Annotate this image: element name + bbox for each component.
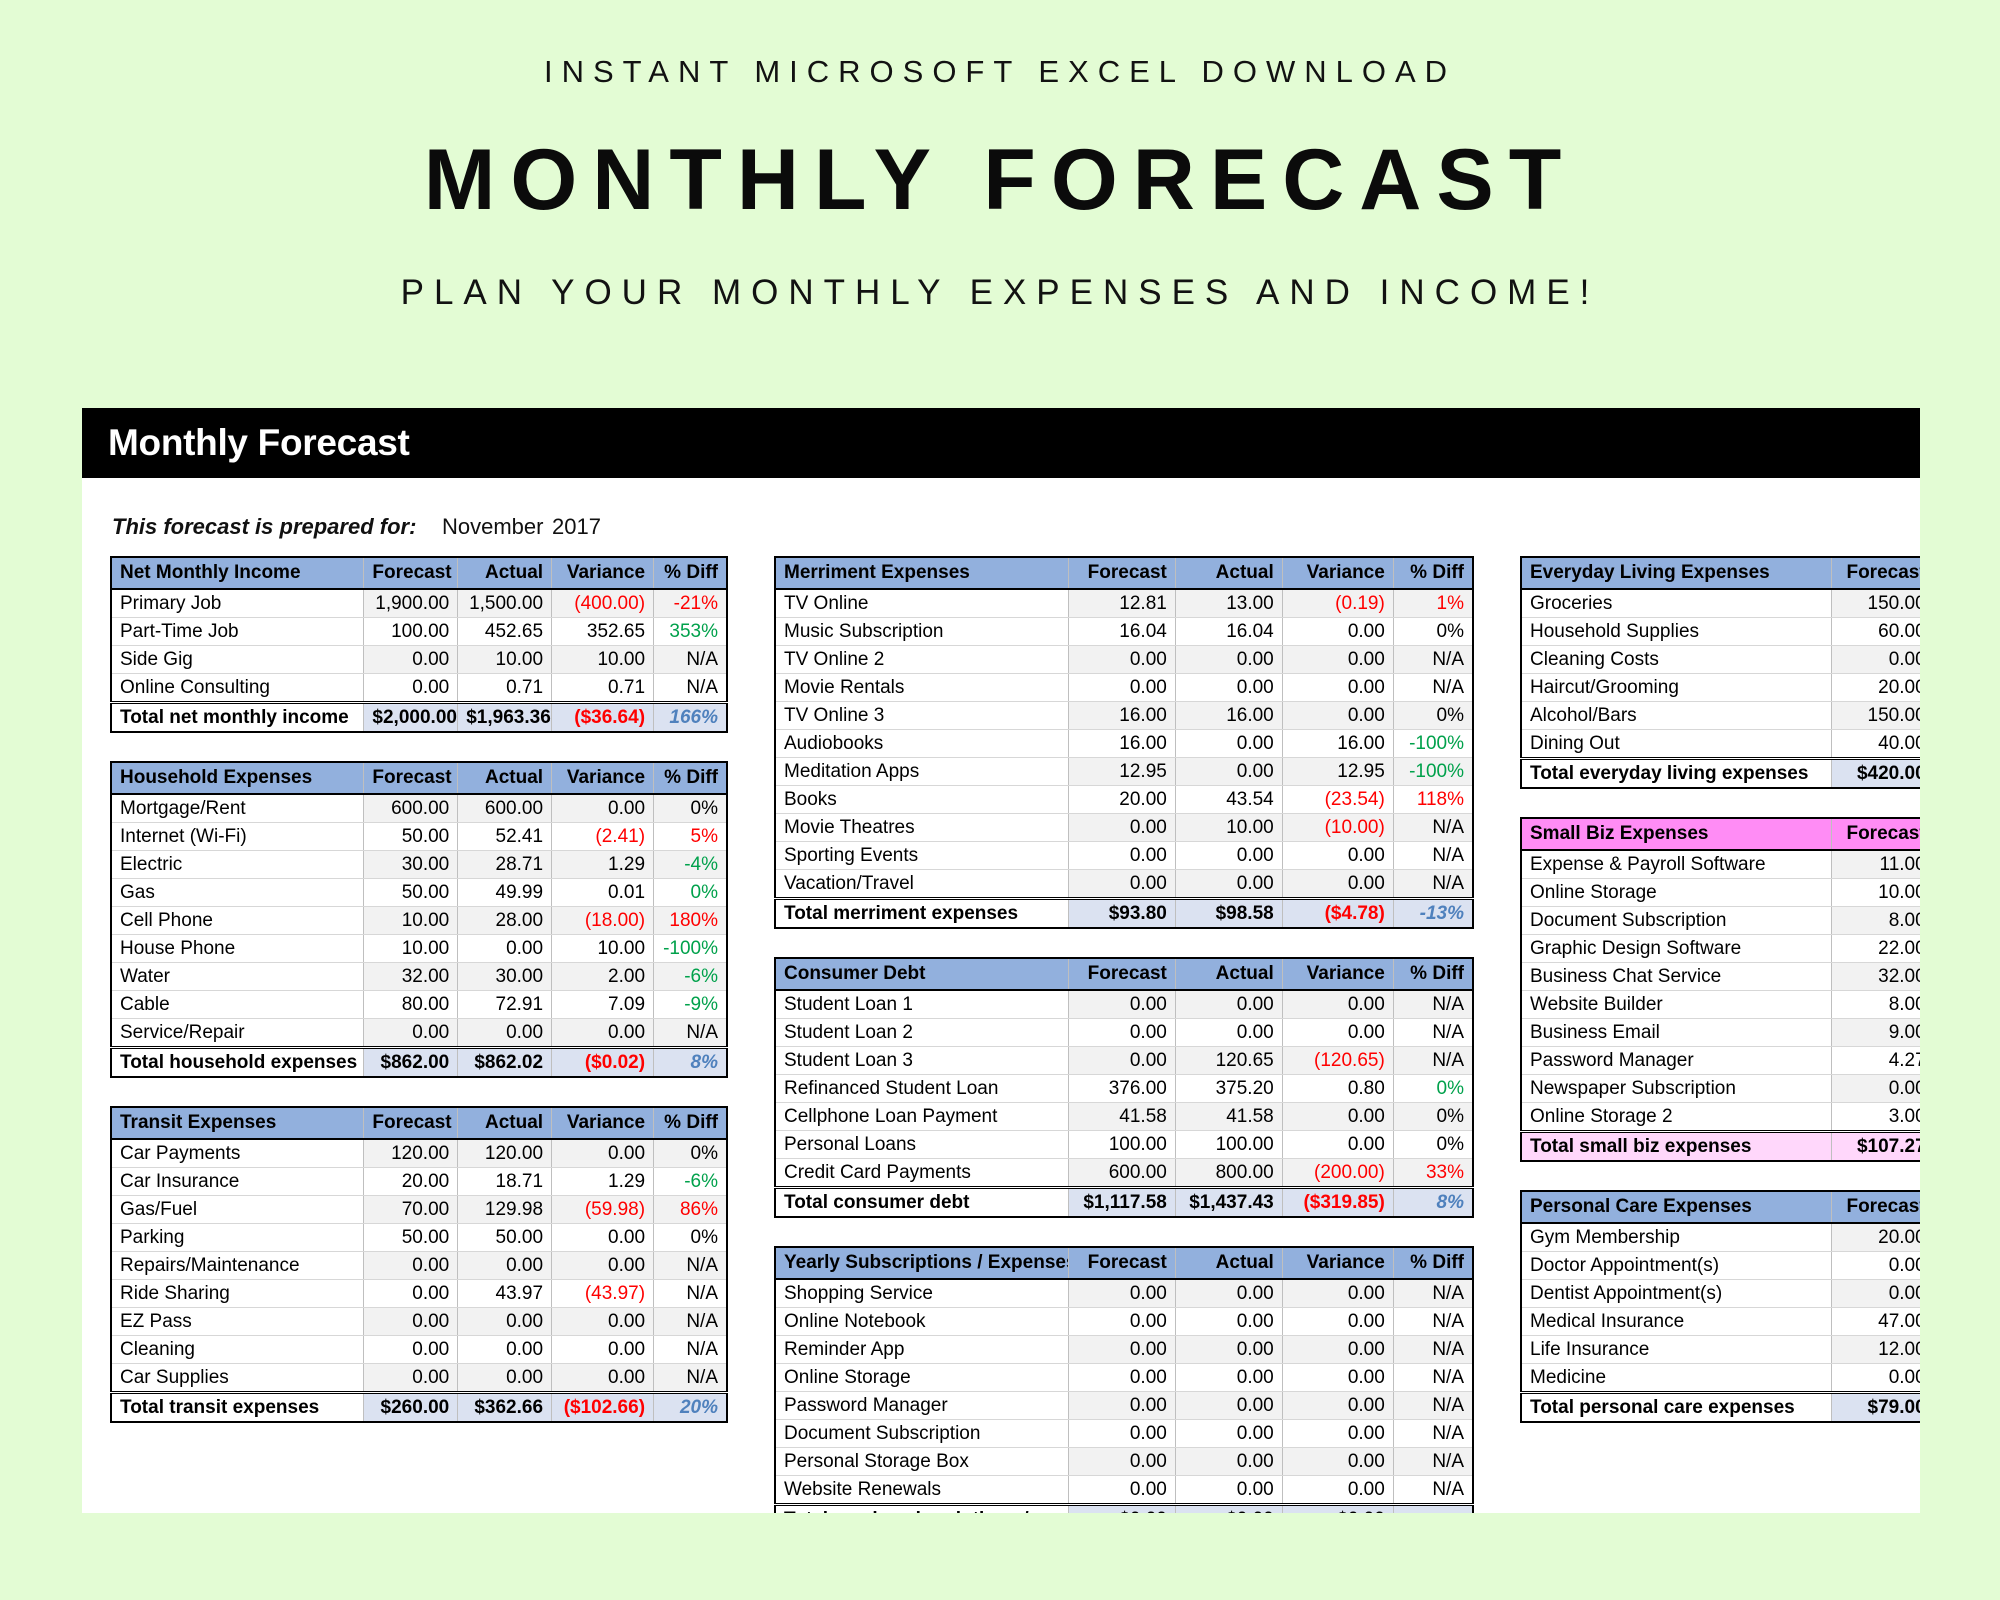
- col-header-forecast[interactable]: Forecast: [1068, 557, 1175, 589]
- cell-actual[interactable]: 452.65: [458, 618, 552, 646]
- row-label[interactable]: Movie Rentals: [775, 674, 1068, 702]
- cell-actual[interactable]: 1,500.00: [458, 589, 552, 618]
- row-label[interactable]: Car Payments: [111, 1139, 364, 1168]
- cell-pct-diff[interactable]: N/A: [654, 1364, 727, 1393]
- row-label[interactable]: Doctor Appointment(s): [1521, 1252, 1832, 1280]
- row-label[interactable]: Cleaning Costs: [1521, 646, 1832, 674]
- col-header-variance[interactable]: Variance: [552, 762, 654, 794]
- cell-forecast[interactable]: 70.00: [364, 1196, 458, 1224]
- cell-actual[interactable]: 0.00: [1175, 674, 1282, 702]
- table-title-cell[interactable]: Transit Expenses: [111, 1107, 364, 1139]
- cell-actual[interactable]: 16.04: [1175, 618, 1282, 646]
- cell-variance[interactable]: 0.00: [1282, 1131, 1393, 1159]
- cell-pct-diff[interactable]: 33%: [1393, 1159, 1473, 1188]
- cell-variance[interactable]: 0.00: [552, 1139, 654, 1168]
- cell-forecast[interactable]: 9.00: [1832, 1019, 1920, 1047]
- row-label[interactable]: Online Storage 2: [1521, 1103, 1832, 1132]
- cell-forecast[interactable]: 600.00: [1068, 1159, 1175, 1188]
- row-label[interactable]: Household Supplies: [1521, 618, 1832, 646]
- cell-variance[interactable]: 0.00: [552, 1252, 654, 1280]
- row-label[interactable]: Music Subscription: [775, 618, 1068, 646]
- col-header-forecast[interactable]: Forecast: [1068, 1247, 1175, 1279]
- cell-pct-diff[interactable]: N/A: [1393, 1476, 1473, 1505]
- row-label[interactable]: Website Renewals: [775, 1476, 1068, 1505]
- col-header-forecast[interactable]: Forecast: [1832, 557, 1920, 589]
- cell-forecast[interactable]: 0.00: [1068, 1019, 1175, 1047]
- cell-forecast[interactable]: 8.00: [1832, 991, 1920, 1019]
- cell-actual[interactable]: 0.00: [458, 1019, 552, 1048]
- cell-pct-diff[interactable]: N/A: [1393, 646, 1473, 674]
- cell-variance[interactable]: 0.00: [1282, 870, 1393, 899]
- cell-forecast[interactable]: 0.00: [1068, 1336, 1175, 1364]
- row-label[interactable]: Document Subscription: [1521, 907, 1832, 935]
- cell-pct-diff[interactable]: N/A: [654, 1308, 727, 1336]
- cell-variance[interactable]: (400.00): [552, 589, 654, 618]
- row-label[interactable]: TV Online: [775, 589, 1068, 618]
- cell-pct-diff[interactable]: 0%: [654, 1139, 727, 1168]
- cell-forecast[interactable]: 50.00: [364, 879, 458, 907]
- cell-pct-diff[interactable]: 0%: [654, 879, 727, 907]
- cell-forecast[interactable]: 0.00: [1068, 1279, 1175, 1308]
- table-title-cell[interactable]: Everyday Living Expenses: [1521, 557, 1832, 589]
- col-header-variance[interactable]: Variance: [552, 1107, 654, 1139]
- row-label[interactable]: Haircut/Grooming: [1521, 674, 1832, 702]
- cell-variance[interactable]: 0.00: [1282, 1336, 1393, 1364]
- cell-actual[interactable]: 43.97: [458, 1280, 552, 1308]
- table-title-cell[interactable]: Personal Care Expenses: [1521, 1191, 1832, 1223]
- row-label[interactable]: Repairs/Maintenance: [111, 1252, 364, 1280]
- table-title-cell[interactable]: Merriment Expenses: [775, 557, 1068, 589]
- cell-pct-diff[interactable]: N/A: [1393, 1279, 1473, 1308]
- row-label[interactable]: Document Subscription: [775, 1420, 1068, 1448]
- row-label[interactable]: Cleaning: [111, 1336, 364, 1364]
- cell-forecast[interactable]: 4.27: [1832, 1047, 1920, 1075]
- cell-pct-diff[interactable]: 86%: [654, 1196, 727, 1224]
- row-label[interactable]: Graphic Design Software: [1521, 935, 1832, 963]
- cell-pct-diff[interactable]: 0%: [1393, 1075, 1473, 1103]
- row-label[interactable]: Gym Membership: [1521, 1223, 1832, 1252]
- cell-actual[interactable]: 0.00: [1175, 1364, 1282, 1392]
- row-label[interactable]: Online Storage: [1521, 879, 1832, 907]
- row-label[interactable]: TV Online 3: [775, 702, 1068, 730]
- cell-forecast[interactable]: 0.00: [1068, 1420, 1175, 1448]
- cell-forecast[interactable]: 0.00: [1068, 814, 1175, 842]
- cell-variance[interactable]: 0.00: [552, 1308, 654, 1336]
- cell-forecast[interactable]: 8.00: [1832, 907, 1920, 935]
- cell-forecast[interactable]: 0.00: [1832, 1364, 1920, 1393]
- cell-actual[interactable]: 375.20: [1175, 1075, 1282, 1103]
- row-label[interactable]: Sporting Events: [775, 842, 1068, 870]
- col-header-forecast[interactable]: Forecast: [364, 1107, 458, 1139]
- cell-actual[interactable]: 10.00: [1175, 814, 1282, 842]
- cell-forecast[interactable]: 0.00: [1068, 1308, 1175, 1336]
- cell-pct-diff[interactable]: 0%: [1393, 618, 1473, 646]
- cell-actual[interactable]: 0.00: [458, 1252, 552, 1280]
- cell-forecast[interactable]: 20.00: [364, 1168, 458, 1196]
- cell-forecast[interactable]: 100.00: [364, 618, 458, 646]
- cell-variance[interactable]: 7.09: [552, 991, 654, 1019]
- row-label[interactable]: Part-Time Job: [111, 618, 364, 646]
- row-label[interactable]: Dentist Appointment(s): [1521, 1280, 1832, 1308]
- cell-variance[interactable]: 0.00: [552, 1224, 654, 1252]
- cell-variance[interactable]: 0.00: [1282, 618, 1393, 646]
- cell-pct-diff[interactable]: N/A: [654, 1019, 727, 1048]
- cell-actual[interactable]: 100.00: [1175, 1131, 1282, 1159]
- cell-forecast[interactable]: 10.00: [1832, 879, 1920, 907]
- cell-forecast[interactable]: 41.58: [1068, 1103, 1175, 1131]
- cell-variance[interactable]: (59.98): [552, 1196, 654, 1224]
- cell-actual[interactable]: 600.00: [458, 794, 552, 823]
- row-label[interactable]: Online Consulting: [111, 674, 364, 703]
- cell-variance[interactable]: 0.00: [1282, 1308, 1393, 1336]
- cell-pct-diff[interactable]: -100%: [654, 935, 727, 963]
- cell-actual[interactable]: 52.41: [458, 823, 552, 851]
- col-header-actual[interactable]: Actual: [458, 762, 552, 794]
- cell-actual[interactable]: 0.00: [1175, 870, 1282, 899]
- row-label[interactable]: Password Manager: [1521, 1047, 1832, 1075]
- row-label[interactable]: Expense & Payroll Software: [1521, 850, 1832, 879]
- row-label[interactable]: Online Notebook: [775, 1308, 1068, 1336]
- cell-pct-diff[interactable]: N/A: [1393, 1336, 1473, 1364]
- cell-forecast[interactable]: 20.00: [1832, 1223, 1920, 1252]
- cell-pct-diff[interactable]: N/A: [1393, 814, 1473, 842]
- cell-forecast[interactable]: 12.95: [1068, 758, 1175, 786]
- cell-pct-diff[interactable]: 180%: [654, 907, 727, 935]
- cell-actual[interactable]: 28.71: [458, 851, 552, 879]
- row-label[interactable]: Internet (Wi-Fi): [111, 823, 364, 851]
- col-header-pct-diff[interactable]: % Diff: [654, 1107, 727, 1139]
- col-header-actual[interactable]: Actual: [1175, 557, 1282, 589]
- cell-actual[interactable]: 72.91: [458, 991, 552, 1019]
- row-label[interactable]: Life Insurance: [1521, 1336, 1832, 1364]
- cell-actual[interactable]: 0.00: [458, 1364, 552, 1393]
- col-header-actual[interactable]: Actual: [1175, 1247, 1282, 1279]
- cell-actual[interactable]: 0.00: [1175, 646, 1282, 674]
- cell-forecast[interactable]: 50.00: [364, 823, 458, 851]
- cell-pct-diff[interactable]: N/A: [1393, 1392, 1473, 1420]
- cell-variance[interactable]: (43.97): [552, 1280, 654, 1308]
- prepared-for-month[interactable]: November: [442, 514, 552, 540]
- cell-forecast[interactable]: 0.00: [1068, 674, 1175, 702]
- cell-forecast[interactable]: 0.00: [1832, 1252, 1920, 1280]
- table-title-cell[interactable]: Household Expenses: [111, 762, 364, 794]
- cell-actual[interactable]: 120.00: [458, 1139, 552, 1168]
- row-label[interactable]: Student Loan 2: [775, 1019, 1068, 1047]
- row-label[interactable]: Password Manager: [775, 1392, 1068, 1420]
- cell-actual[interactable]: 16.00: [1175, 702, 1282, 730]
- cell-actual[interactable]: 28.00: [458, 907, 552, 935]
- cell-pct-diff[interactable]: N/A: [1393, 674, 1473, 702]
- cell-actual[interactable]: 129.98: [458, 1196, 552, 1224]
- cell-forecast[interactable]: 100.00: [1068, 1131, 1175, 1159]
- cell-variance[interactable]: 0.00: [1282, 842, 1393, 870]
- cell-forecast[interactable]: 0.00: [364, 1308, 458, 1336]
- cell-forecast[interactable]: 40.00: [1832, 730, 1920, 759]
- cell-pct-diff[interactable]: N/A: [1393, 1364, 1473, 1392]
- cell-pct-diff[interactable]: -4%: [654, 851, 727, 879]
- cell-pct-diff[interactable]: 0%: [654, 1224, 727, 1252]
- cell-pct-diff[interactable]: N/A: [1393, 1047, 1473, 1075]
- row-label[interactable]: Newspaper Subscription: [1521, 1075, 1832, 1103]
- cell-pct-diff[interactable]: N/A: [654, 646, 727, 674]
- cell-actual[interactable]: 10.00: [458, 646, 552, 674]
- col-header-forecast[interactable]: Forecast: [1068, 958, 1175, 990]
- cell-pct-diff[interactable]: N/A: [654, 1252, 727, 1280]
- cell-pct-diff[interactable]: N/A: [1393, 842, 1473, 870]
- cell-pct-diff[interactable]: 0%: [1393, 1131, 1473, 1159]
- cell-forecast[interactable]: 10.00: [364, 935, 458, 963]
- cell-forecast[interactable]: 600.00: [364, 794, 458, 823]
- row-label[interactable]: Audiobooks: [775, 730, 1068, 758]
- cell-forecast[interactable]: 60.00: [1832, 618, 1920, 646]
- row-label[interactable]: Side Gig: [111, 646, 364, 674]
- row-label[interactable]: Ride Sharing: [111, 1280, 364, 1308]
- cell-variance[interactable]: (23.54): [1282, 786, 1393, 814]
- cell-variance[interactable]: 10.00: [552, 935, 654, 963]
- cell-pct-diff[interactable]: N/A: [1393, 1448, 1473, 1476]
- cell-pct-diff[interactable]: N/A: [1393, 1420, 1473, 1448]
- row-label[interactable]: Books: [775, 786, 1068, 814]
- cell-variance[interactable]: 16.00: [1282, 730, 1393, 758]
- cell-pct-diff[interactable]: 0%: [654, 794, 727, 823]
- cell-actual[interactable]: 49.99: [458, 879, 552, 907]
- cell-variance[interactable]: 0.01: [552, 879, 654, 907]
- cell-forecast[interactable]: 12.81: [1068, 589, 1175, 618]
- row-label[interactable]: Business Email: [1521, 1019, 1832, 1047]
- cell-variance[interactable]: 2.00: [552, 963, 654, 991]
- cell-forecast[interactable]: 50.00: [364, 1224, 458, 1252]
- cell-variance[interactable]: 10.00: [552, 646, 654, 674]
- cell-pct-diff[interactable]: N/A: [654, 1336, 727, 1364]
- col-header-actual[interactable]: Actual: [1175, 958, 1282, 990]
- cell-forecast[interactable]: 3.00: [1832, 1103, 1920, 1132]
- cell-pct-diff[interactable]: N/A: [1393, 870, 1473, 899]
- row-label[interactable]: Cable: [111, 991, 364, 1019]
- col-header-forecast[interactable]: Forecast: [364, 557, 458, 589]
- cell-actual[interactable]: 0.00: [1175, 1420, 1282, 1448]
- row-label[interactable]: Vacation/Travel: [775, 870, 1068, 899]
- col-header-actual[interactable]: Actual: [458, 557, 552, 589]
- cell-variance[interactable]: 0.80: [1282, 1075, 1393, 1103]
- cell-pct-diff[interactable]: -21%: [654, 589, 727, 618]
- row-label[interactable]: Parking: [111, 1224, 364, 1252]
- cell-forecast[interactable]: 376.00: [1068, 1075, 1175, 1103]
- row-label[interactable]: Business Chat Service: [1521, 963, 1832, 991]
- cell-pct-diff[interactable]: -100%: [1393, 758, 1473, 786]
- cell-pct-diff[interactable]: -6%: [654, 1168, 727, 1196]
- cell-variance[interactable]: 1.29: [552, 851, 654, 879]
- row-label[interactable]: Meditation Apps: [775, 758, 1068, 786]
- cell-actual[interactable]: 0.00: [1175, 990, 1282, 1019]
- cell-forecast[interactable]: 0.00: [364, 1364, 458, 1393]
- row-label[interactable]: Car Supplies: [111, 1364, 364, 1393]
- cell-forecast[interactable]: 0.00: [1068, 1476, 1175, 1505]
- cell-actual[interactable]: 0.00: [1175, 1308, 1282, 1336]
- cell-actual[interactable]: 0.00: [1175, 730, 1282, 758]
- cell-forecast[interactable]: 0.00: [1832, 1075, 1920, 1103]
- cell-actual[interactable]: 0.00: [1175, 1476, 1282, 1505]
- cell-forecast[interactable]: 47.00: [1832, 1308, 1920, 1336]
- cell-actual[interactable]: 41.58: [1175, 1103, 1282, 1131]
- row-label[interactable]: Gas/Fuel: [111, 1196, 364, 1224]
- cell-actual[interactable]: 800.00: [1175, 1159, 1282, 1188]
- row-label[interactable]: EZ Pass: [111, 1308, 364, 1336]
- cell-pct-diff[interactable]: 0%: [1393, 1103, 1473, 1131]
- table-title-cell[interactable]: Net Monthly Income: [111, 557, 364, 589]
- row-label[interactable]: Personal Loans: [775, 1131, 1068, 1159]
- cell-actual[interactable]: 43.54: [1175, 786, 1282, 814]
- cell-variance[interactable]: (18.00): [552, 907, 654, 935]
- cell-forecast[interactable]: 1,900.00: [364, 589, 458, 618]
- cell-variance[interactable]: 352.65: [552, 618, 654, 646]
- col-header-forecast[interactable]: Forecast: [1832, 818, 1920, 850]
- cell-forecast[interactable]: 16.04: [1068, 618, 1175, 646]
- cell-variance[interactable]: 1.29: [552, 1168, 654, 1196]
- row-label[interactable]: Website Builder: [1521, 991, 1832, 1019]
- cell-variance[interactable]: 0.00: [552, 794, 654, 823]
- row-label[interactable]: Water: [111, 963, 364, 991]
- cell-forecast[interactable]: 0.00: [364, 1280, 458, 1308]
- cell-forecast[interactable]: 11.00: [1832, 850, 1920, 879]
- cell-variance[interactable]: 0.00: [1282, 990, 1393, 1019]
- row-label[interactable]: Cell Phone: [111, 907, 364, 935]
- cell-variance[interactable]: (2.41): [552, 823, 654, 851]
- cell-actual[interactable]: 120.65: [1175, 1047, 1282, 1075]
- cell-actual[interactable]: 0.00: [1175, 1336, 1282, 1364]
- cell-variance[interactable]: (0.19): [1282, 589, 1393, 618]
- row-label[interactable]: Cellphone Loan Payment: [775, 1103, 1068, 1131]
- cell-forecast[interactable]: 0.00: [1068, 990, 1175, 1019]
- cell-forecast[interactable]: 10.00: [364, 907, 458, 935]
- cell-variance[interactable]: 0.00: [1282, 646, 1393, 674]
- col-header-actual[interactable]: Actual: [458, 1107, 552, 1139]
- col-header-variance[interactable]: Variance: [552, 557, 654, 589]
- cell-forecast[interactable]: 30.00: [364, 851, 458, 879]
- cell-variance[interactable]: (10.00): [1282, 814, 1393, 842]
- table-title-cell[interactable]: Yearly Subscriptions / Expenses: [775, 1247, 1068, 1279]
- cell-actual[interactable]: 0.00: [1175, 1019, 1282, 1047]
- cell-variance[interactable]: 0.00: [1282, 1279, 1393, 1308]
- col-header-pct-diff[interactable]: % Diff: [1393, 1247, 1473, 1279]
- cell-variance[interactable]: 0.00: [552, 1364, 654, 1393]
- row-label[interactable]: Gas: [111, 879, 364, 907]
- col-header-pct-diff[interactable]: % Diff: [654, 557, 727, 589]
- cell-forecast[interactable]: 20.00: [1068, 786, 1175, 814]
- cell-variance[interactable]: (120.65): [1282, 1047, 1393, 1075]
- cell-pct-diff[interactable]: 0%: [1393, 702, 1473, 730]
- row-label[interactable]: Credit Card Payments: [775, 1159, 1068, 1188]
- cell-forecast[interactable]: 0.00: [1068, 870, 1175, 899]
- cell-forecast[interactable]: 0.00: [364, 1252, 458, 1280]
- cell-forecast[interactable]: 20.00: [1832, 674, 1920, 702]
- cell-pct-diff[interactable]: 353%: [654, 618, 727, 646]
- row-label[interactable]: Medicine: [1521, 1364, 1832, 1393]
- cell-forecast[interactable]: 0.00: [1832, 646, 1920, 674]
- row-label[interactable]: Medical Insurance: [1521, 1308, 1832, 1336]
- cell-actual[interactable]: 0.00: [1175, 1392, 1282, 1420]
- col-header-variance[interactable]: Variance: [1282, 958, 1393, 990]
- cell-variance[interactable]: 0.00: [552, 1019, 654, 1048]
- cell-forecast[interactable]: 0.00: [1068, 1047, 1175, 1075]
- cell-actual[interactable]: 0.00: [458, 935, 552, 963]
- row-label[interactable]: Dining Out: [1521, 730, 1832, 759]
- cell-pct-diff[interactable]: -100%: [1393, 730, 1473, 758]
- cell-forecast[interactable]: 0.00: [1068, 1392, 1175, 1420]
- cell-forecast[interactable]: 0.00: [1068, 842, 1175, 870]
- row-label[interactable]: Groceries: [1521, 589, 1832, 618]
- col-header-pct-diff[interactable]: % Diff: [1393, 958, 1473, 990]
- row-label[interactable]: Primary Job: [111, 589, 364, 618]
- cell-actual[interactable]: 0.00: [1175, 758, 1282, 786]
- col-header-forecast[interactable]: Forecast: [1832, 1191, 1920, 1223]
- cell-variance[interactable]: 0.00: [1282, 1364, 1393, 1392]
- row-label[interactable]: Alcohol/Bars: [1521, 702, 1832, 730]
- cell-forecast[interactable]: 16.00: [1068, 730, 1175, 758]
- table-title-cell[interactable]: Consumer Debt: [775, 958, 1068, 990]
- cell-forecast[interactable]: 150.00: [1832, 589, 1920, 618]
- cell-variance[interactable]: 0.00: [1282, 1476, 1393, 1505]
- row-label[interactable]: Reminder App: [775, 1336, 1068, 1364]
- cell-forecast[interactable]: 32.00: [364, 963, 458, 991]
- col-header-pct-diff[interactable]: % Diff: [654, 762, 727, 794]
- cell-forecast[interactable]: 120.00: [364, 1139, 458, 1168]
- row-label[interactable]: Student Loan 1: [775, 990, 1068, 1019]
- cell-pct-diff[interactable]: 1%: [1393, 589, 1473, 618]
- row-label[interactable]: Shopping Service: [775, 1279, 1068, 1308]
- cell-actual[interactable]: 0.71: [458, 674, 552, 703]
- col-header-pct-diff[interactable]: % Diff: [1393, 557, 1473, 589]
- cell-forecast[interactable]: 0.00: [364, 646, 458, 674]
- row-label[interactable]: House Phone: [111, 935, 364, 963]
- cell-variance[interactable]: 0.00: [1282, 1392, 1393, 1420]
- cell-variance[interactable]: 0.00: [1282, 1448, 1393, 1476]
- cell-variance[interactable]: 0.71: [552, 674, 654, 703]
- cell-forecast[interactable]: 0.00: [1832, 1280, 1920, 1308]
- col-header-variance[interactable]: Variance: [1282, 1247, 1393, 1279]
- cell-variance[interactable]: 0.00: [1282, 674, 1393, 702]
- cell-actual[interactable]: 0.00: [1175, 1448, 1282, 1476]
- row-label[interactable]: Mortgage/Rent: [111, 794, 364, 823]
- cell-variance[interactable]: 0.00: [1282, 702, 1393, 730]
- row-label[interactable]: Refinanced Student Loan: [775, 1075, 1068, 1103]
- cell-variance[interactable]: 0.00: [1282, 1103, 1393, 1131]
- cell-forecast[interactable]: 150.00: [1832, 702, 1920, 730]
- cell-forecast[interactable]: 12.00: [1832, 1336, 1920, 1364]
- cell-variance[interactable]: (200.00): [1282, 1159, 1393, 1188]
- cell-actual[interactable]: 18.71: [458, 1168, 552, 1196]
- cell-forecast[interactable]: 0.00: [1068, 646, 1175, 674]
- cell-forecast[interactable]: 0.00: [364, 1336, 458, 1364]
- cell-actual[interactable]: 0.00: [1175, 1279, 1282, 1308]
- cell-pct-diff[interactable]: 5%: [654, 823, 727, 851]
- cell-variance[interactable]: 0.00: [552, 1336, 654, 1364]
- cell-forecast[interactable]: 0.00: [364, 1019, 458, 1048]
- row-label[interactable]: Car Insurance: [111, 1168, 364, 1196]
- cell-forecast[interactable]: 16.00: [1068, 702, 1175, 730]
- row-label[interactable]: Service/Repair: [111, 1019, 364, 1048]
- col-header-variance[interactable]: Variance: [1282, 557, 1393, 589]
- cell-pct-diff[interactable]: -9%: [654, 991, 727, 1019]
- cell-pct-diff[interactable]: -6%: [654, 963, 727, 991]
- cell-forecast[interactable]: 22.00: [1832, 935, 1920, 963]
- row-label[interactable]: Movie Theatres: [775, 814, 1068, 842]
- cell-forecast[interactable]: 32.00: [1832, 963, 1920, 991]
- cell-pct-diff[interactable]: N/A: [1393, 990, 1473, 1019]
- cell-variance[interactable]: 12.95: [1282, 758, 1393, 786]
- row-label[interactable]: Online Storage: [775, 1364, 1068, 1392]
- col-header-forecast[interactable]: Forecast: [364, 762, 458, 794]
- cell-actual[interactable]: 13.00: [1175, 589, 1282, 618]
